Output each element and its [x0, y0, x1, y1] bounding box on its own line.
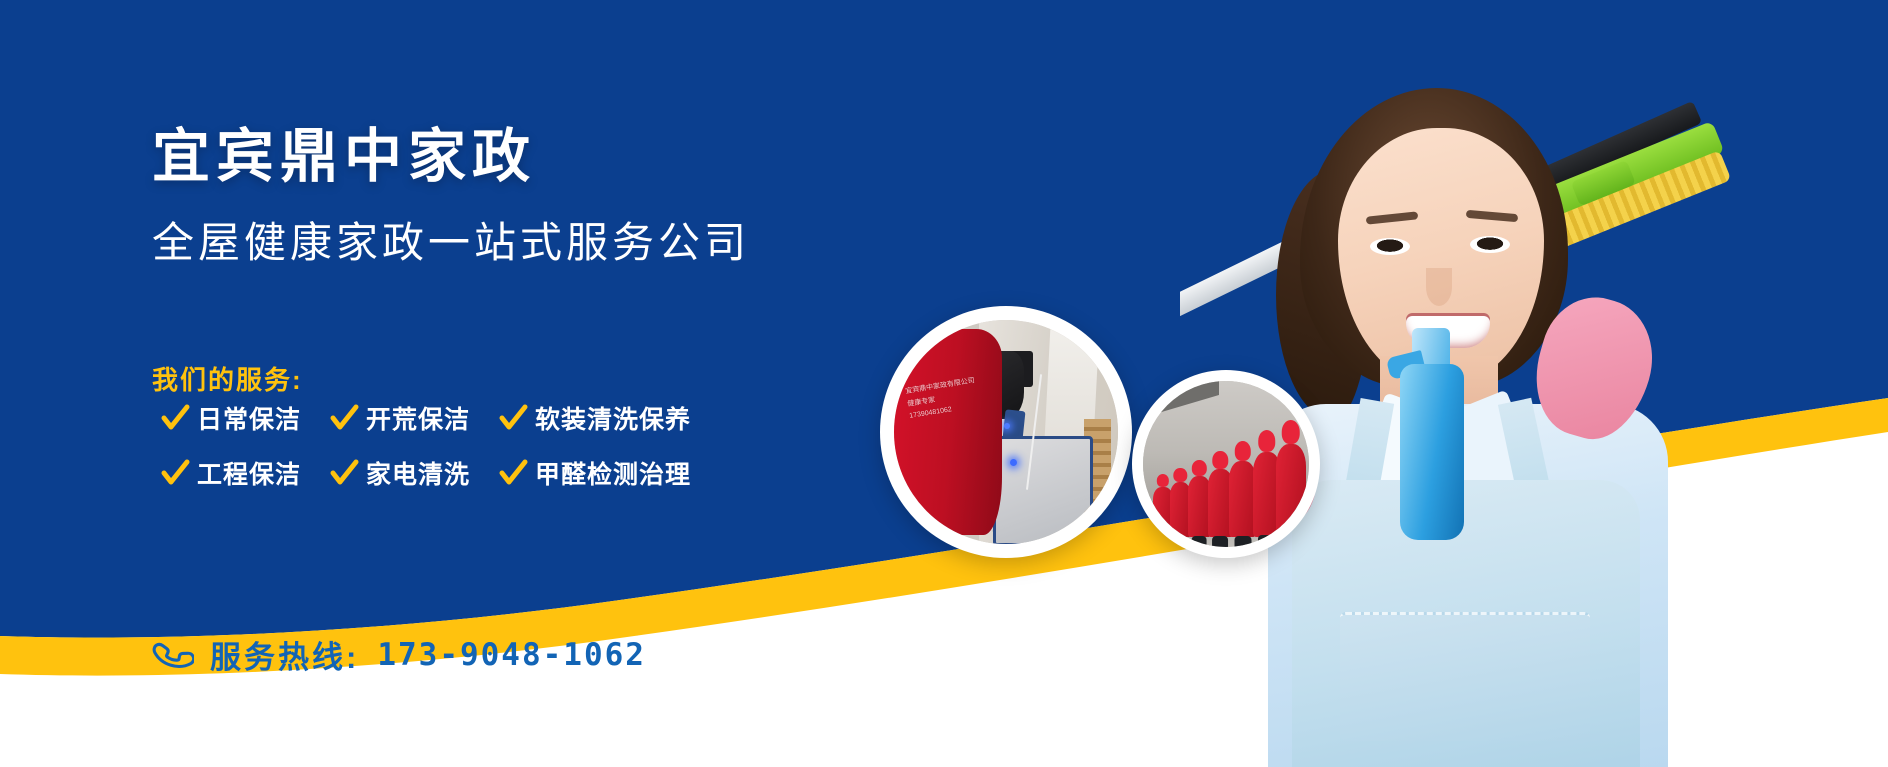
services-row-2: 工程保洁 家电清洗 甲醛检测治理	[160, 455, 719, 491]
check-icon	[160, 403, 190, 433]
check-icon	[329, 458, 359, 488]
photo-a-led-indicator-2	[1004, 423, 1010, 429]
team-lineup-photo	[1132, 370, 1320, 558]
services-row-1: 日常保洁 开荒保洁 软装清洗保养	[160, 400, 719, 436]
service-item[interactable]: 软装清洗保养	[498, 400, 691, 436]
photo-a-detector-case	[993, 436, 1093, 544]
model-nose	[1426, 268, 1452, 306]
service-item[interactable]: 日常保洁	[160, 400, 301, 436]
photo-b-scene	[1143, 381, 1309, 547]
service-item[interactable]: 家电清洗	[329, 455, 470, 491]
service-label: 开荒保洁	[366, 400, 470, 436]
service-label: 家电清洗	[366, 455, 470, 491]
hotline-number[interactable]: 173-9048-1062	[377, 637, 646, 673]
service-label: 工程保洁	[197, 455, 301, 491]
spray-bottle-icon	[1386, 310, 1476, 540]
brand-title: 宜宾鼎中家政	[152, 128, 536, 186]
service-label: 甲醛检测治理	[535, 455, 691, 491]
formaldehyde-testing-photo: 宜宾鼎中家政有限公司 健康专家 17390481062	[880, 306, 1132, 558]
service-item[interactable]: 开荒保洁	[329, 400, 470, 436]
model-eye-right	[1470, 236, 1510, 253]
service-item[interactable]: 甲醛检测治理	[498, 455, 691, 491]
photo-a-red-vest	[894, 329, 1002, 535]
photo-b-staff	[1229, 461, 1256, 537]
promo-banner: 宜宾鼎中家政有限公司 健康专家 17390481062	[0, 0, 1888, 767]
photo-b-inner	[1143, 381, 1309, 547]
check-icon	[498, 403, 528, 433]
model-eye-left	[1370, 238, 1410, 255]
service-item[interactable]: 工程保洁	[160, 455, 301, 491]
service-label: 软装清洗保养	[535, 400, 691, 436]
services-label: 我们的服务:	[152, 360, 303, 397]
hotline-label: 服务热线:	[210, 632, 359, 677]
photo-a-scene: 宜宾鼎中家政有限公司 健康专家 17390481062	[894, 320, 1118, 544]
check-icon	[329, 403, 359, 433]
spray-body	[1400, 364, 1464, 540]
photo-a-inner: 宜宾鼎中家政有限公司 健康专家 17390481062	[894, 320, 1118, 544]
check-icon	[498, 458, 528, 488]
brand-subtitle: 全屋健康家政一站式服务公司	[152, 222, 750, 264]
service-label: 日常保洁	[197, 400, 301, 436]
photo-b-staff	[1276, 444, 1306, 537]
hotline-block[interactable]: 服务热线: 173-9048-1062	[150, 632, 646, 677]
check-icon	[160, 458, 190, 488]
phone-icon	[150, 633, 194, 677]
apron-pocket	[1340, 612, 1590, 741]
